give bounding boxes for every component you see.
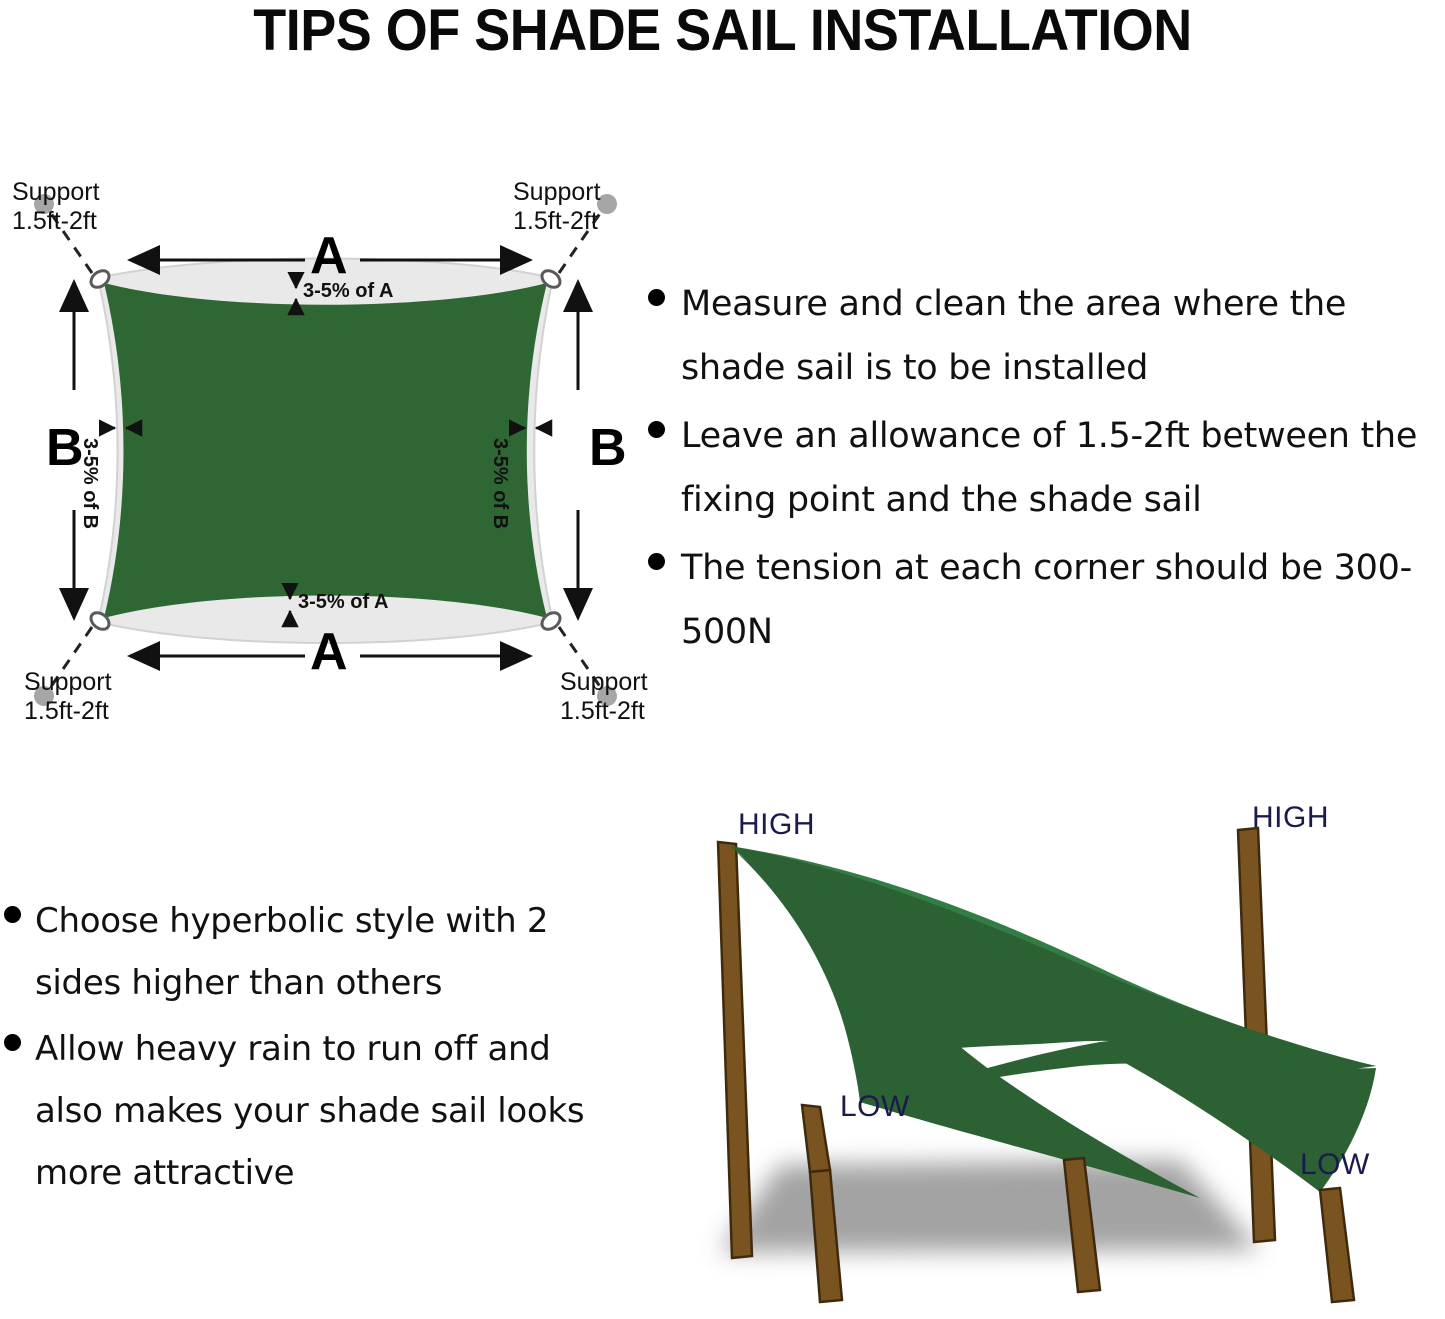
bullet-dot-icon — [648, 553, 665, 570]
ground-shadow — [720, 1160, 1260, 1252]
list-item: The tension at each corner should be 300… — [648, 536, 1445, 664]
list-item: Measure and clean the area where the sha… — [648, 272, 1445, 400]
tip-text: Measure and clean the area where the sha… — [681, 272, 1445, 400]
curve-label-b-left: 3-5% of B — [79, 438, 101, 529]
curve-label-a-bottom: 3-5% of A — [298, 591, 388, 613]
list-item: Leave an allowance of 1.5-2ft between th… — [648, 404, 1445, 532]
installation-tips-list-bottom: Choose hyperbolic style with 2 sides hig… — [4, 890, 619, 1208]
dimension-label-a-top: A — [310, 230, 348, 282]
dimension-label-a-bottom: A — [310, 626, 348, 678]
pole-high-left — [718, 842, 752, 1258]
infographic-page: TIPS OF SHADE SAIL INSTALLATION — [0, 0, 1445, 1319]
bullet-dot-icon — [4, 906, 21, 923]
installation-tips-list-top: Measure and clean the area where the sha… — [648, 272, 1445, 668]
support-label-bottom-right: Support 1.5ft-2ft — [560, 668, 648, 726]
dimension-label-b-left: B — [46, 422, 84, 474]
support-label-bottom-left: Support 1.5ft-2ft — [24, 668, 112, 726]
tip-text: The tension at each corner should be 300… — [681, 536, 1445, 664]
label-low-left: LOW — [840, 1090, 910, 1124]
bullet-dot-icon — [648, 289, 665, 306]
dimension-label-b-right: B — [589, 422, 627, 474]
label-high-left: HIGH — [738, 808, 815, 842]
label-low-right: LOW — [1300, 1148, 1370, 1182]
rectangular-sail-diagram: Support 1.5ft-2ft Support 1.5ft-2ft Supp… — [0, 160, 660, 730]
bullet-dot-icon — [648, 421, 665, 438]
bullet-dot-icon — [4, 1034, 21, 1051]
shade-sail-body — [104, 283, 547, 618]
label-high-right: HIGH — [1252, 801, 1329, 835]
tip-text: Choose hyperbolic style with 2 sides hig… — [35, 890, 619, 1014]
tip-text: Leave an allowance of 1.5-2ft between th… — [681, 404, 1445, 532]
list-item: Choose hyperbolic style with 2 sides hig… — [4, 890, 619, 1014]
list-item: Allow heavy rain to run off and also mak… — [4, 1018, 619, 1204]
support-label-top-left: Support 1.5ft-2ft — [12, 178, 100, 236]
pole-low-right — [1320, 1188, 1354, 1302]
hyperbolic-sail-illustration: HIGH HIGH LOW LOW — [660, 780, 1445, 1319]
tip-text: Allow heavy rain to run off and also mak… — [35, 1018, 619, 1204]
curve-label-a-top: 3-5% of A — [303, 280, 393, 302]
curve-label-b-right: 3-5% of B — [489, 438, 511, 529]
support-label-top-right: Support 1.5ft-2ft — [513, 178, 601, 236]
page-title: TIPS OF SHADE SAIL INSTALLATION — [51, 0, 1395, 62]
